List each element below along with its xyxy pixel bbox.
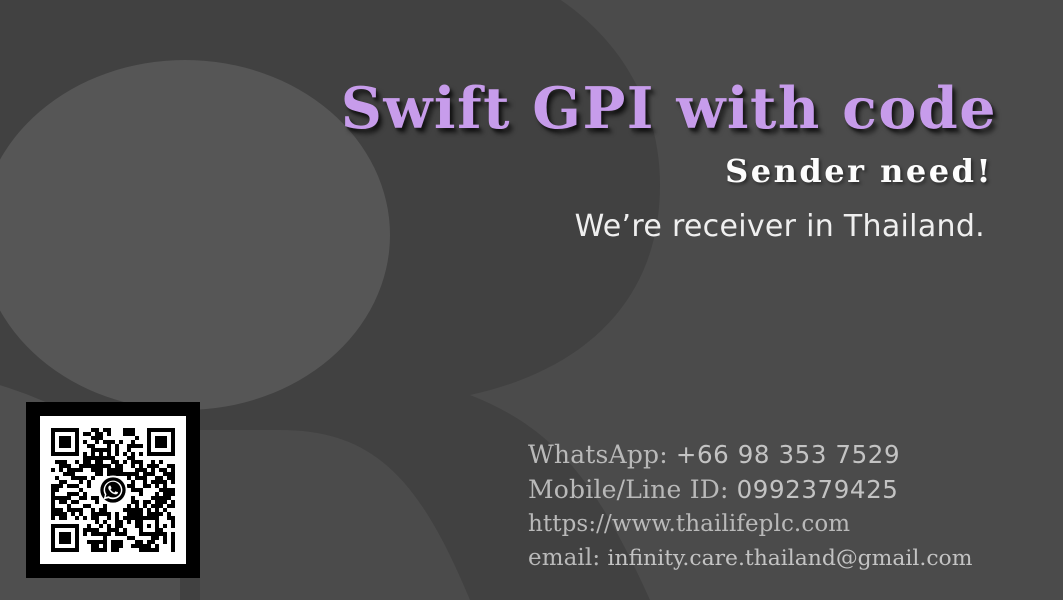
- headline-block: Swift GPI with code Sender need! We’re r…: [0, 0, 1063, 280]
- business-card: Swift GPI with code Sender need! We’re r…: [0, 0, 1063, 600]
- contact-line-mobile: Mobile/Line ID: 0992379425: [528, 472, 998, 507]
- headline-tagline: We’re receiver in Thailand.: [575, 210, 985, 243]
- contact-line-email: email: infinity.care.thailand@gmail.com: [528, 541, 998, 576]
- watermark-r-counter: [0, 60, 390, 410]
- contact-block: WhatsApp: +66 98 353 7529 Mobile/Line ID…: [528, 437, 998, 576]
- contact-value-whatsapp[interactable]: +66 98 353 7529: [676, 440, 900, 469]
- contact-label-email: email:: [528, 545, 600, 571]
- page-title: Swift GPI with code: [341, 80, 997, 137]
- contact-value-email[interactable]: infinity.care.thailand@gmail.com: [608, 546, 973, 571]
- headline-subtitle: Sender need!: [725, 155, 993, 187]
- contact-line-website[interactable]: https://www.thailifeplc.com: [528, 507, 998, 541]
- contact-line-whatsapp: WhatsApp: +66 98 353 7529: [528, 437, 998, 472]
- whatsapp-icon: [98, 475, 128, 505]
- qr-code-frame[interactable]: [26, 402, 200, 578]
- contact-value-website[interactable]: https://www.thailifeplc.com: [528, 511, 850, 537]
- contact-label-mobile: Mobile/Line ID:: [528, 475, 729, 504]
- contact-value-mobile[interactable]: 0992379425: [737, 475, 899, 504]
- qr-code-area[interactable]: [40, 416, 186, 564]
- contact-label-whatsapp: WhatsApp:: [528, 440, 668, 469]
